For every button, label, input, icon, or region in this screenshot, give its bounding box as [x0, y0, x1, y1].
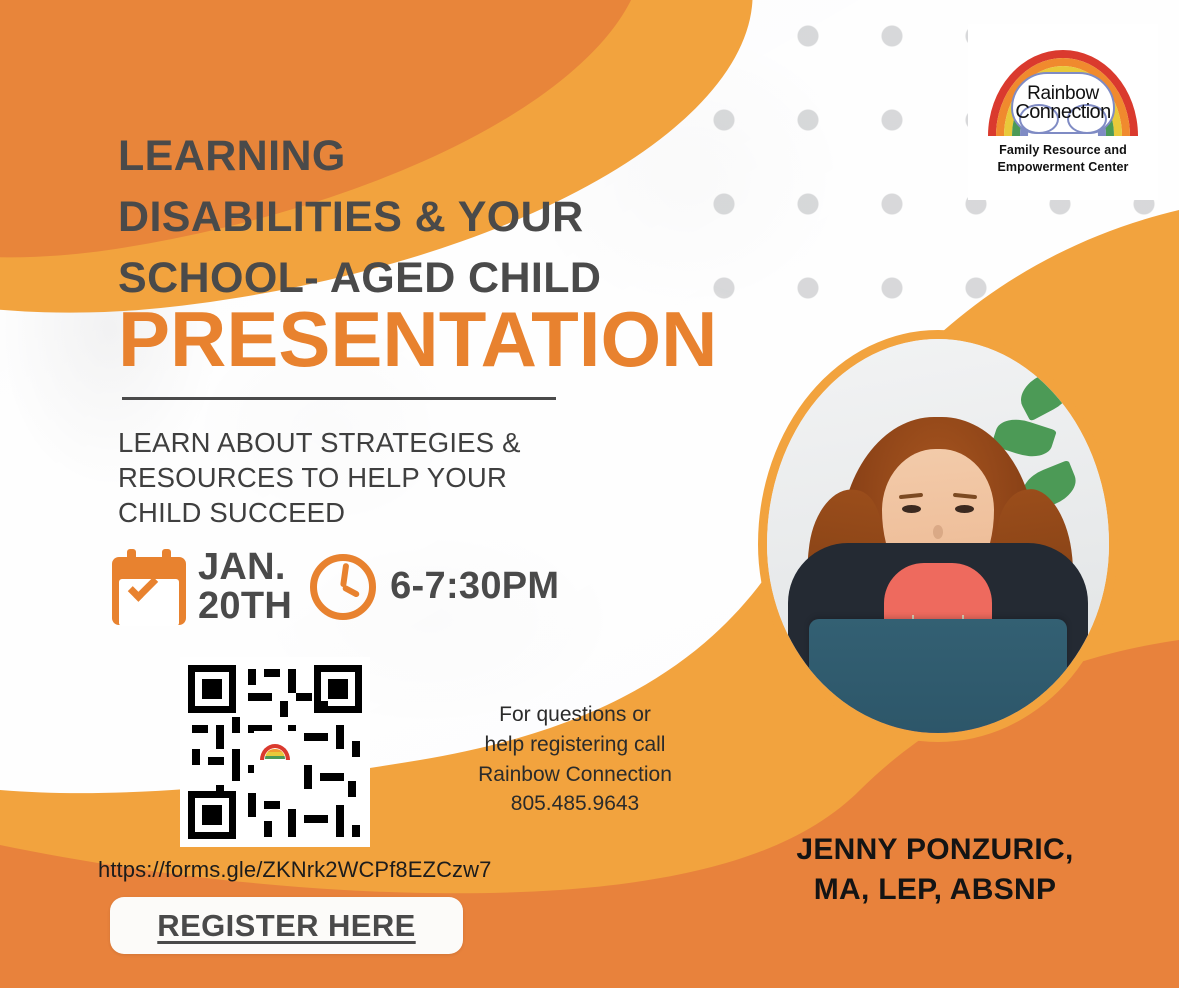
subtitle: LEARN ABOUT STRATEGIES & RESOURCES TO HE… — [118, 425, 588, 531]
headline-line-2: DISABILITIES & YOUR — [118, 187, 818, 248]
subtitle-line-1: LEARN ABOUT STRATEGIES & — [118, 425, 588, 460]
logo-name-line2: Connection — [1015, 103, 1110, 122]
logo-tagline-line2: Empowerment Center — [998, 159, 1129, 176]
contact-block: For questions or help registering call R… — [455, 700, 695, 819]
registration-url[interactable]: https://forms.gle/ZKNrk2WCPf8EZCzw7 — [98, 857, 491, 883]
headline: LEARNING DISABILITIES & YOUR SCHOOL- AGE… — [118, 126, 818, 309]
event-datetime-row: JAN. 20TH 6-7:30PM — [112, 548, 559, 626]
register-button-label: REGISTER HERE — [157, 908, 415, 944]
logo-tagline-line1: Family Resource and — [998, 142, 1129, 159]
presenter-portrait — [758, 330, 1118, 742]
clock-icon — [310, 554, 376, 620]
event-date-line1: JAN. — [198, 548, 292, 587]
flyer-poster: Rainbow Connection Family Resource and E… — [0, 0, 1179, 988]
qr-code[interactable] — [180, 657, 370, 847]
register-here-button[interactable]: REGISTER HERE — [110, 897, 463, 954]
cloud-shape: Rainbow Connection — [1011, 72, 1115, 134]
laptop — [809, 619, 1067, 742]
logo-wordmark: Rainbow Connection — [1015, 85, 1110, 122]
rainbow-connection-logo: Rainbow Connection Family Resource and E… — [968, 24, 1158, 200]
headline-divider — [122, 397, 556, 400]
event-date-line2: 20TH — [198, 587, 292, 626]
event-time: 6-7:30PM — [390, 565, 559, 608]
contact-line-1: For questions or — [455, 700, 695, 730]
logo-tagline: Family Resource and Empowerment Center — [998, 142, 1129, 176]
presenter-name-line1: JENNY PONZURIC, — [735, 830, 1135, 870]
contact-line-2: help registering call — [455, 730, 695, 760]
subtitle-line-2: RESOURCES TO HELP YOUR — [118, 460, 588, 495]
subtitle-line-3: CHILD SUCCEED — [118, 495, 588, 530]
event-date: JAN. 20TH — [198, 548, 292, 626]
calendar-icon — [112, 549, 186, 625]
presenter-name: JENNY PONZURIC, MA, LEP, ABSNP — [735, 830, 1135, 909]
contact-phone[interactable]: 805.485.9643 — [455, 789, 695, 819]
presenter-credentials: MA, LEP, ABSNP — [735, 870, 1135, 910]
contact-line-3: Rainbow Connection — [455, 760, 695, 790]
qr-pattern — [188, 665, 362, 839]
rainbow-icon: Rainbow Connection — [987, 28, 1139, 136]
headline-line-1: LEARNING — [118, 126, 818, 187]
logo-name-line1: Rainbow — [1015, 85, 1110, 103]
qr-center-logo — [254, 731, 296, 773]
headline-emphasis: PRESENTATION — [118, 300, 717, 378]
